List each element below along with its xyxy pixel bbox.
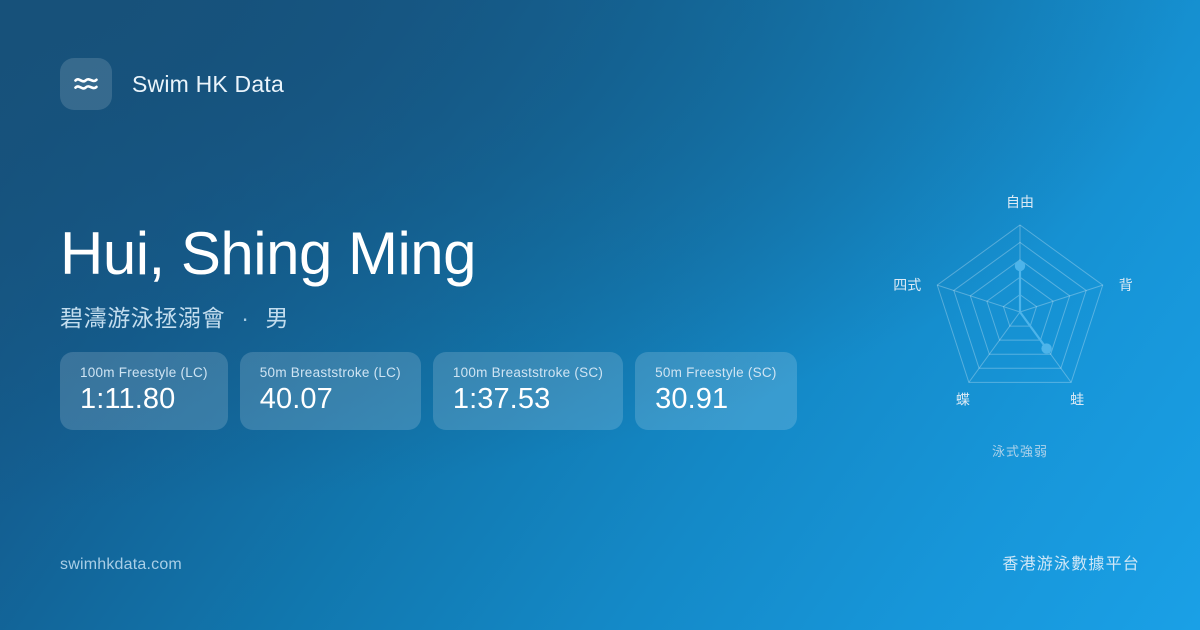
swimmer-meta: 碧濤游泳拯溺會 · 男 bbox=[60, 299, 840, 333]
radar-point bbox=[1041, 343, 1051, 353]
wave-icon bbox=[60, 58, 112, 110]
stat-card: 50m Freestyle (SC) 30.91 bbox=[635, 352, 797, 430]
page-title: Hui, Shing Ming bbox=[60, 220, 840, 287]
radar-axis-label: 四式 bbox=[893, 277, 921, 293]
footer-tagline: 香港游泳數據平台 bbox=[1002, 550, 1140, 574]
stat-label: 50m Freestyle (SC) bbox=[655, 365, 777, 380]
radar-point bbox=[1015, 261, 1025, 271]
stat-value: 1:37.53 bbox=[453, 384, 603, 415]
stat-card-list: 100m Freestyle (LC) 1:11.80 50m Breastst… bbox=[60, 352, 797, 430]
radar-spoke bbox=[937, 285, 1020, 312]
radar-axis-label: 蛙 bbox=[1070, 391, 1084, 407]
radar-spoke bbox=[1020, 285, 1103, 312]
radar-axis-label: 蝶 bbox=[956, 391, 970, 407]
radar-caption: 泳式強弱 bbox=[870, 441, 1170, 460]
stat-label: 100m Breaststroke (SC) bbox=[453, 365, 603, 380]
radar-axis-labels: 自由背蛙蝶四式 bbox=[893, 194, 1132, 407]
swimmer-club: 碧濤游泳拯溺會 bbox=[60, 305, 225, 331]
radar-spoke bbox=[969, 312, 1020, 382]
stat-value: 30.91 bbox=[655, 384, 777, 415]
stat-value: 40.07 bbox=[260, 384, 401, 415]
swimmer-gender: 男 bbox=[265, 305, 289, 331]
stroke-radar-chart: 自由背蛙蝶四式 bbox=[870, 170, 1170, 470]
stat-card: 100m Freestyle (LC) 1:11.80 bbox=[60, 352, 228, 430]
radar-axis-label: 自由 bbox=[1006, 194, 1034, 210]
meta-separator: · bbox=[241, 305, 249, 332]
radar-axis-label: 背 bbox=[1119, 277, 1133, 293]
swimmer-identity: Hui, Shing Ming 碧濤游泳拯溺會 · 男 bbox=[60, 220, 840, 333]
stat-card: 50m Breaststroke (LC) 40.07 bbox=[240, 352, 421, 430]
og-card: Swim HK Data Hui, Shing Ming 碧濤游泳拯溺會 · 男… bbox=[0, 0, 1200, 630]
brand-name: Swim HK Data bbox=[132, 71, 284, 98]
stat-card: 100m Breaststroke (SC) 1:37.53 bbox=[433, 352, 623, 430]
brand: Swim HK Data bbox=[60, 58, 284, 110]
stat-label: 50m Breaststroke (LC) bbox=[260, 365, 401, 380]
stat-value: 1:11.80 bbox=[80, 384, 208, 415]
stat-label: 100m Freestyle (LC) bbox=[80, 365, 208, 380]
footer-site: swimhkdata.com bbox=[60, 556, 182, 574]
